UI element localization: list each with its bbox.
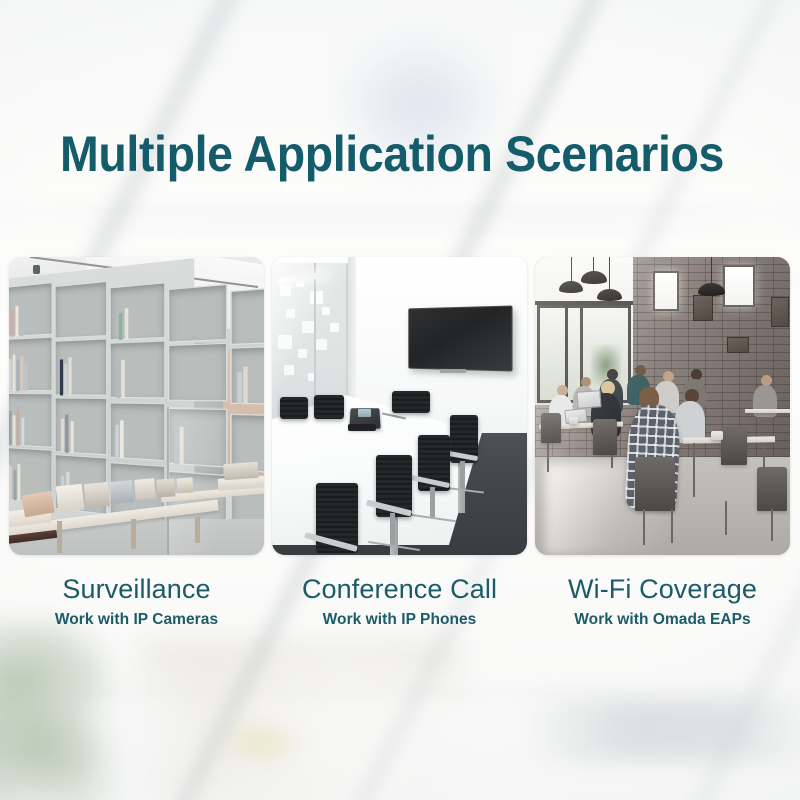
- book-display: [56, 484, 85, 513]
- conference-room-scene: [272, 257, 527, 555]
- book-display: [156, 478, 175, 497]
- display-tables: [9, 443, 264, 555]
- book-display: [134, 478, 156, 500]
- phone-handset: [348, 424, 376, 431]
- book-display: [110, 480, 134, 504]
- shelf-cell: [230, 345, 264, 404]
- shelf-cell: [55, 281, 108, 339]
- shelf-cell: [230, 286, 264, 345]
- shelf-cell: [168, 343, 227, 402]
- scenario-photo-conference-call: [272, 257, 527, 555]
- scenarios-page: Multiple Application Scenarios: [0, 0, 800, 800]
- scenario-card-wifi-coverage[interactable]: Wi-Fi Coverage Work with Omada EAPs: [535, 257, 790, 630]
- table-leg: [57, 521, 62, 553]
- scenario-card-conference-call[interactable]: Conference Call Work with IP Phones: [272, 257, 527, 630]
- scenario-title: Conference Call: [272, 574, 527, 605]
- scenario-title: Surveillance: [9, 574, 264, 605]
- book-display: [84, 482, 110, 508]
- scenario-subtitle: Work with IP Phones: [272, 605, 527, 630]
- scenario-card-list: Surveillance Work with IP Cameras: [9, 257, 783, 630]
- scenario-caption-surveillance: Surveillance Work with IP Cameras: [9, 555, 264, 630]
- tv-mount: [440, 369, 466, 373]
- scenario-card-surveillance[interactable]: Surveillance Work with IP Cameras: [9, 257, 264, 630]
- spotlight-1: [33, 265, 40, 274]
- phone-screen: [358, 409, 371, 417]
- scenario-caption-wifi-coverage: Wi-Fi Coverage Work with Omada EAPs: [535, 555, 790, 630]
- shelf-cell: [9, 282, 53, 337]
- scenario-subtitle: Work with Omada EAPs: [535, 605, 790, 630]
- shelf-cell: [9, 393, 53, 448]
- shelf-cell: [55, 338, 108, 395]
- table-leg: [195, 517, 200, 543]
- scenario-caption-conference-call: Conference Call Work with IP Phones: [272, 555, 527, 630]
- shelf-cell: [168, 284, 227, 343]
- scenario-photo-surveillance: [9, 257, 264, 555]
- page-title: Multiple Application Scenarios: [60, 125, 724, 183]
- bookstore-scene: [9, 257, 264, 555]
- scenario-title: Wi-Fi Coverage: [535, 574, 790, 605]
- shelf-cell: [110, 282, 166, 340]
- shelf-cell: [9, 337, 53, 392]
- book-display-rear: [224, 462, 259, 480]
- book-display: [176, 477, 193, 493]
- wall-mounted-tv: [408, 305, 512, 371]
- cafe-scene: [535, 257, 790, 555]
- table-leg: [131, 519, 136, 549]
- scenario-subtitle: Work with IP Cameras: [9, 605, 264, 630]
- shelf-cell: [110, 340, 166, 398]
- scenario-photo-wifi-coverage: [535, 257, 790, 555]
- warm-light-overlay: [535, 257, 790, 555]
